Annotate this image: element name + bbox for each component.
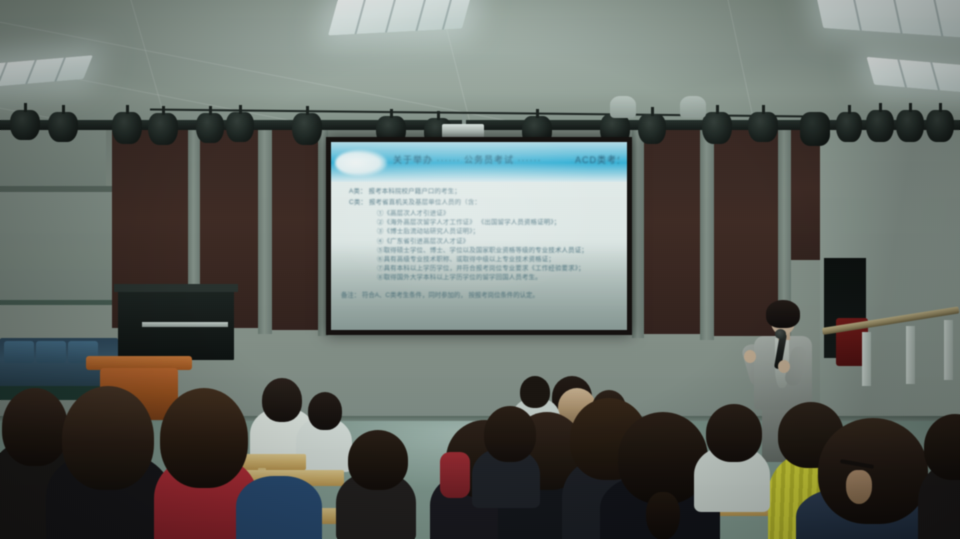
projection-screen-frame: 关于举办 ······ 公务员考试 ······ ACD类考生 A类： 报考本科… (326, 137, 632, 335)
stage-light (926, 110, 954, 142)
stage-light (866, 110, 894, 142)
stage-light (748, 112, 778, 142)
slide-body-line: ⑦具有本科以上学历学位，并符合报考岗位专业要求《工作经验要求》； (337, 265, 621, 273)
audience-member (706, 404, 762, 462)
handrail-post (862, 332, 871, 386)
stage-light (196, 113, 224, 143)
audience-arm (440, 452, 470, 498)
slide-body-line: A类： 报考本科院校户籍户口的考生； (337, 188, 621, 196)
slide-title: 关于举办 ······ 公务员考试 ······ ACD类考生 (393, 153, 619, 166)
ceiling-speaker (610, 96, 636, 118)
audience-member (2, 388, 68, 466)
slide-body-line: ③《博士后流动站研究人员证明》； (337, 228, 621, 236)
slide-body-line: ⑤取得硕士学位、博士、学位以及国家职业资格等级的专业技术人员证； (337, 247, 621, 255)
piano-keys (142, 322, 228, 327)
slide-body-line: ①《高层次人才引进证》 (337, 210, 621, 218)
wall-panel (0, 192, 112, 303)
sofa-cushion (36, 341, 66, 363)
wall-pilaster (258, 126, 272, 334)
stage-light (112, 112, 142, 144)
slide-body-line: C类： 报考省直机关及基层单位人员的（含： (337, 199, 621, 207)
piano-lid (114, 284, 238, 292)
audience-member (62, 386, 154, 490)
stage-light (226, 112, 254, 142)
audience-member (348, 430, 408, 490)
ponytail (646, 492, 680, 539)
ear (846, 470, 872, 504)
stage-light (292, 113, 322, 145)
stage-light (148, 113, 178, 145)
slide-body-line: ④《广东省引进高层次人才证》 (337, 238, 621, 246)
audience-member (308, 392, 342, 430)
audience-member (520, 376, 550, 408)
wall-panel-dark (644, 128, 700, 334)
audience-member (160, 388, 248, 488)
slide-cloud-graphic (335, 150, 387, 176)
slide-body-line: ②《海外高层次留学人才工作证》 《出国留学人员资格证明》； (337, 219, 621, 227)
stage-light (800, 112, 830, 146)
slide-body-line: ⑧取得国外大学本科以上学历学位的留学回国人员考生。 (337, 274, 621, 282)
audience-member (236, 476, 322, 539)
stage-light (48, 112, 78, 142)
audience-member (262, 378, 302, 422)
sofa-cushion (4, 341, 34, 363)
auditorium-photo: 关于举办 ······ 公务员考试 ······ ACD类考生 A类： 报考本科… (0, 0, 960, 539)
wall-band (0, 300, 120, 305)
slide-title-part1: 关于举办 ······ 公务员考试 ······ (393, 155, 541, 165)
stage-light (702, 112, 732, 144)
stage-light (10, 110, 40, 140)
stage-light (836, 112, 862, 142)
audience-glasses-man (818, 418, 928, 524)
slide-title-part2: ACD类考生 (575, 155, 619, 165)
wall-panel-dark (272, 128, 320, 330)
presenter-right-hand (744, 350, 756, 363)
wall-panel-dark (791, 128, 821, 260)
microphone-head (775, 329, 786, 339)
wall-pilaster (632, 126, 644, 338)
presenter-hair (766, 300, 800, 328)
stage-light (896, 110, 924, 142)
wall-pilaster (700, 126, 714, 340)
presenter-left-hand (778, 360, 790, 373)
handrail-post (944, 320, 953, 380)
ceiling-speaker (680, 96, 706, 118)
handrail-post (906, 326, 915, 384)
stage-light (638, 114, 666, 144)
audience-member (484, 406, 536, 462)
slide-body-line: ⑥具有高级专业技术职称、或取得中级以上专业技术资格证； (337, 256, 621, 264)
projection-screen: 关于举办 ······ 公务员考试 ······ ACD类考生 A类： 报考本科… (331, 142, 627, 330)
ceiling-projector (442, 124, 484, 138)
slide-footer: 备注： 符合A、C类考生条件，同时参加的， 按报考岗位条件的认定。 (341, 290, 621, 299)
